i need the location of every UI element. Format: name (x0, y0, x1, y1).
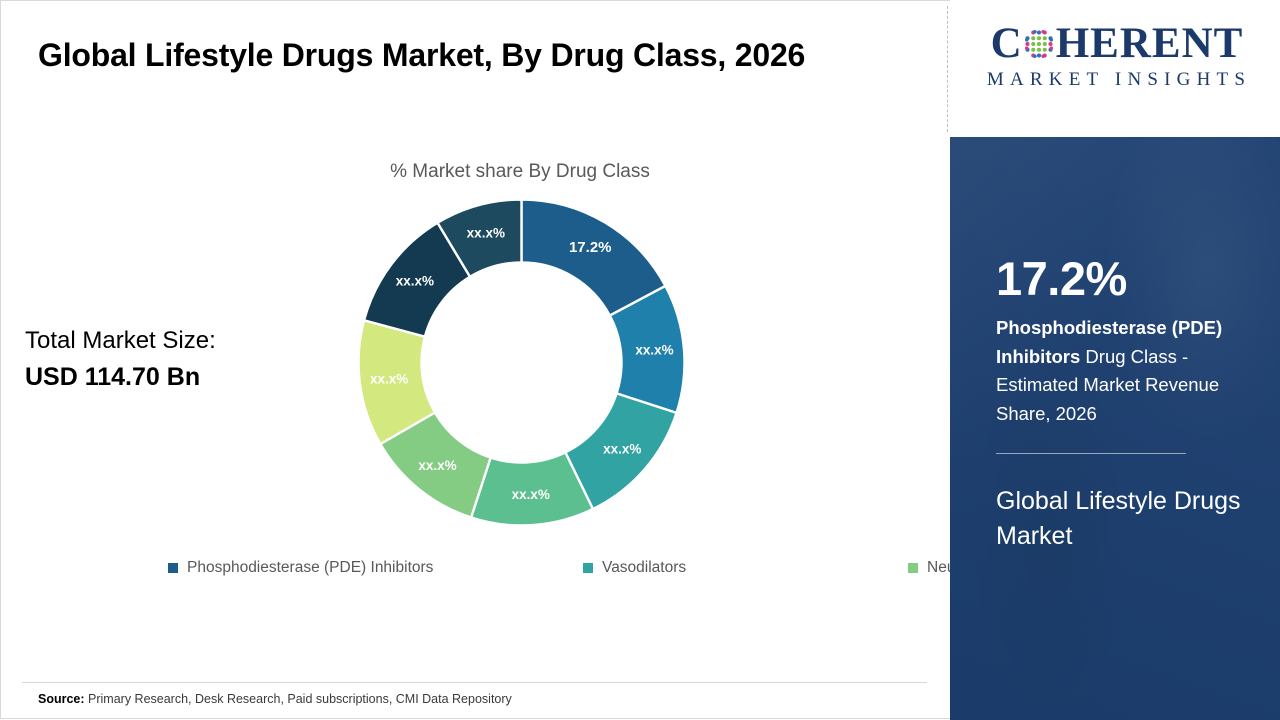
donut-slice-label: xx.x% (635, 342, 673, 357)
legend-swatch-icon (908, 563, 918, 573)
donut-slice-label: 17.2% (569, 239, 612, 256)
donut-slice-label: xx.x% (512, 487, 550, 502)
sidebar-percent: 17.2% (996, 255, 1258, 302)
total-market-size-block: Total Market Size: USD 114.70 Bn (25, 324, 325, 395)
donut-slice-label: xx.x% (418, 458, 456, 473)
coherent-market-insights-logo[interactable]: C HERENT MARKET INSIGHTS (967, 22, 1267, 91)
sidebar-panel-content: 17.2% Phosphodiesterase (PDE) Inhibitors… (996, 255, 1258, 555)
legend-swatch-icon (168, 563, 178, 573)
source-divider (22, 682, 927, 683)
logo-letters-herent: HERENT (1056, 22, 1244, 65)
legend-swatch-icon (583, 563, 593, 573)
chart-legend: Phosphodiesterase (PDE) InhibitorsVasodi… (168, 553, 908, 584)
donut-chart: 17.2%xx.x%xx.x%xx.x%xx.x%xx.x%xx.x%xx.x% (354, 195, 689, 530)
logo-letter-c: C (991, 22, 1023, 65)
legend-item[interactable]: Phosphodiesterase (PDE) Inhibitors (168, 553, 583, 584)
sidebar-divider (996, 453, 1186, 454)
globe-dots-icon (1023, 28, 1055, 60)
sidebar-footer-title: Global Lifestyle Drugs Market (996, 484, 1258, 555)
logo-area: C HERENT MARKET INSIGHTS (950, 0, 1280, 137)
legend-item[interactable]: Vasodilators (583, 553, 908, 584)
legend-item-label: Vasodilators (602, 559, 686, 577)
source-label: Source: (38, 692, 85, 706)
total-market-size-value: USD 114.70 Bn (25, 359, 325, 395)
donut-chart-svg: 17.2%xx.x%xx.x%xx.x%xx.x%xx.x%xx.x%xx.x% (354, 195, 689, 530)
sidebar-highlight-panel: 17.2% Phosphodiesterase (PDE) Inhibitors… (950, 137, 1280, 720)
vertical-dashed-separator (947, 6, 948, 132)
donut-slice-label: xx.x% (467, 225, 505, 240)
source-text: Primary Research, Desk Research, Paid su… (85, 692, 512, 706)
chart-subtitle: % Market share By Drug Class (355, 161, 685, 183)
sidebar: C HERENT MARKET INSIGHTS 17.2% Phosphodi… (950, 0, 1280, 720)
infographic-page: Global Lifestyle Drugs Market, By Drug C… (0, 0, 1280, 720)
main-content-pane: Global Lifestyle Drugs Market, By Drug C… (0, 0, 947, 720)
source-line: Source: Primary Research, Desk Research,… (38, 692, 512, 706)
donut-slice-label: xx.x% (396, 274, 434, 289)
sidebar-description: Phosphodiesterase (PDE) Inhibitors Drug … (996, 314, 1258, 429)
total-market-size-label: Total Market Size: (25, 324, 325, 359)
page-title: Global Lifestyle Drugs Market, By Drug C… (38, 30, 848, 82)
logo-tagline: MARKET INSIGHTS (967, 69, 1267, 91)
donut-slice-label: xx.x% (370, 371, 408, 386)
donut-slice-label: xx.x% (603, 442, 641, 457)
donut-slice-group (359, 200, 685, 526)
legend-item-label: Phosphodiesterase (PDE) Inhibitors (187, 559, 433, 577)
logo-wordmark: C HERENT (967, 22, 1267, 65)
